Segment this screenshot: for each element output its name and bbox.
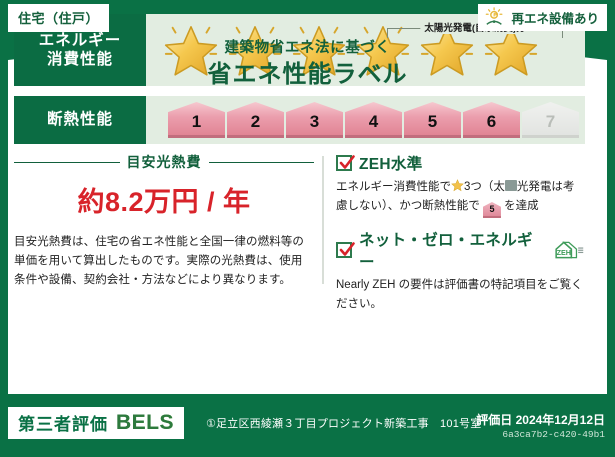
claim-text-part3: を達成 [504, 200, 539, 212]
utility-cost-value: 約8.2万円 / 年 [14, 180, 314, 219]
insulation-grade-5: 5 [404, 102, 461, 138]
redacted-character [505, 180, 517, 191]
claim-zeh-level: ZEH水準 エネルギー消費性能で3つ（太光発電は考慮しない）、かつ断熱性能で 5… [336, 152, 585, 218]
insulation-grade-3: 3 [286, 102, 343, 138]
check-icon [336, 155, 352, 171]
utility-cost-heading: 目安光熱費 [14, 152, 314, 172]
claim-net-zero-energy: ネット・ゼロ・エネルギー ZEH [336, 228, 585, 314]
check-icon [336, 242, 352, 258]
evaluation-id: 6a3ca7b2-c420-49b1 [502, 429, 605, 440]
insulation-label: 断熱性能 [47, 110, 113, 129]
renewable-energy-tag-label: 再エネ設備あり [511, 8, 599, 27]
insulation-grade-7: 7 [522, 102, 579, 138]
claim-zeh-level-head: ZEH水準 [336, 152, 585, 174]
heading-rule-right [209, 162, 315, 163]
insulation-performance-label-box: 断熱性能 [14, 96, 146, 144]
section-divider [322, 156, 324, 284]
energy-performance-label: 住宅（住戸） 再エネ設備あり 建築物省エネ法に基づく 省エネ性能ラベル [0, 0, 615, 457]
insulation-grade-6: 6 [463, 102, 520, 138]
insulation-grade-4: 4 [345, 102, 402, 138]
project-name: ①足立区西綾瀬３丁目プロジェクト新築工事 101号室 [206, 415, 481, 431]
claim-text-star: 3つ（太 [464, 181, 505, 193]
svg-text:ZEH: ZEH [557, 248, 571, 257]
label-title: 省エネ性能ラベル [0, 54, 615, 89]
label-footer: 第三者評価 BELS ①足立区西綾瀬３丁目プロジェクト新築工事 101号室 評価… [0, 399, 615, 457]
heading-rule-left [14, 162, 120, 163]
insulation-grade-2: 2 [227, 102, 284, 138]
solar-sun-icon [484, 7, 506, 27]
insulation-grade-scale: 1234567 [168, 102, 579, 138]
utility-cost-block: 目安光熱費 約8.2万円 / 年 目安光熱費は、住宅の省エネ性能と全国一律の燃料… [14, 152, 314, 290]
claim-text-part1: エネルギー消費性能で [336, 181, 451, 193]
bels-jp-label: 第三者評価 [18, 410, 108, 435]
claim-zeh-level-body: エネルギー消費性能で3つ（太光発電は考慮しない）、かつ断熱性能で 5 を達成 [336, 178, 585, 218]
mini-star-icon [451, 179, 464, 192]
claim-net-zero-head: ネット・ゼロ・エネルギー ZEH [336, 228, 585, 272]
renewable-energy-tag: 再エネ設備あり [478, 4, 607, 31]
claim-zeh-level-title: ZEH水準 [359, 152, 423, 174]
housing-type-tag: 住宅（住戸） [8, 4, 109, 32]
insulation-grades-area: 1234567 [146, 96, 585, 144]
zeh-house-logo-icon: ZEH [547, 239, 585, 261]
utility-cost-note: 目安光熱費は、住宅の省エネ性能と全国一律の燃料等の単価を用いて算出したものです。… [14, 233, 314, 290]
evaluation-date: 評価日 2024年12月12日 [476, 411, 605, 428]
bels-en-label: BELS [116, 411, 174, 435]
bels-badge: 第三者評価 BELS [8, 407, 184, 439]
claims-block: ZEH水準 エネルギー消費性能で3つ（太光発電は考慮しない）、かつ断熱性能で 5… [336, 152, 585, 324]
insulation-performance-row: 断熱性能 1234567 [14, 96, 585, 144]
claim-net-zero-title: ネット・ゼロ・エネルギー [359, 228, 540, 272]
mini-grade-chevron: 5 [483, 202, 501, 218]
insulation-grade-1: 1 [168, 102, 225, 138]
utility-cost-heading-text: 目安光熱費 [127, 152, 202, 172]
claim-net-zero-body: Nearly ZEH の要件は評価書の特記項目をご覧ください。 [336, 276, 585, 314]
lower-section: 目安光熱費 約8.2万円 / 年 目安光熱費は、住宅の省エネ性能と全国一律の燃料… [14, 152, 585, 290]
